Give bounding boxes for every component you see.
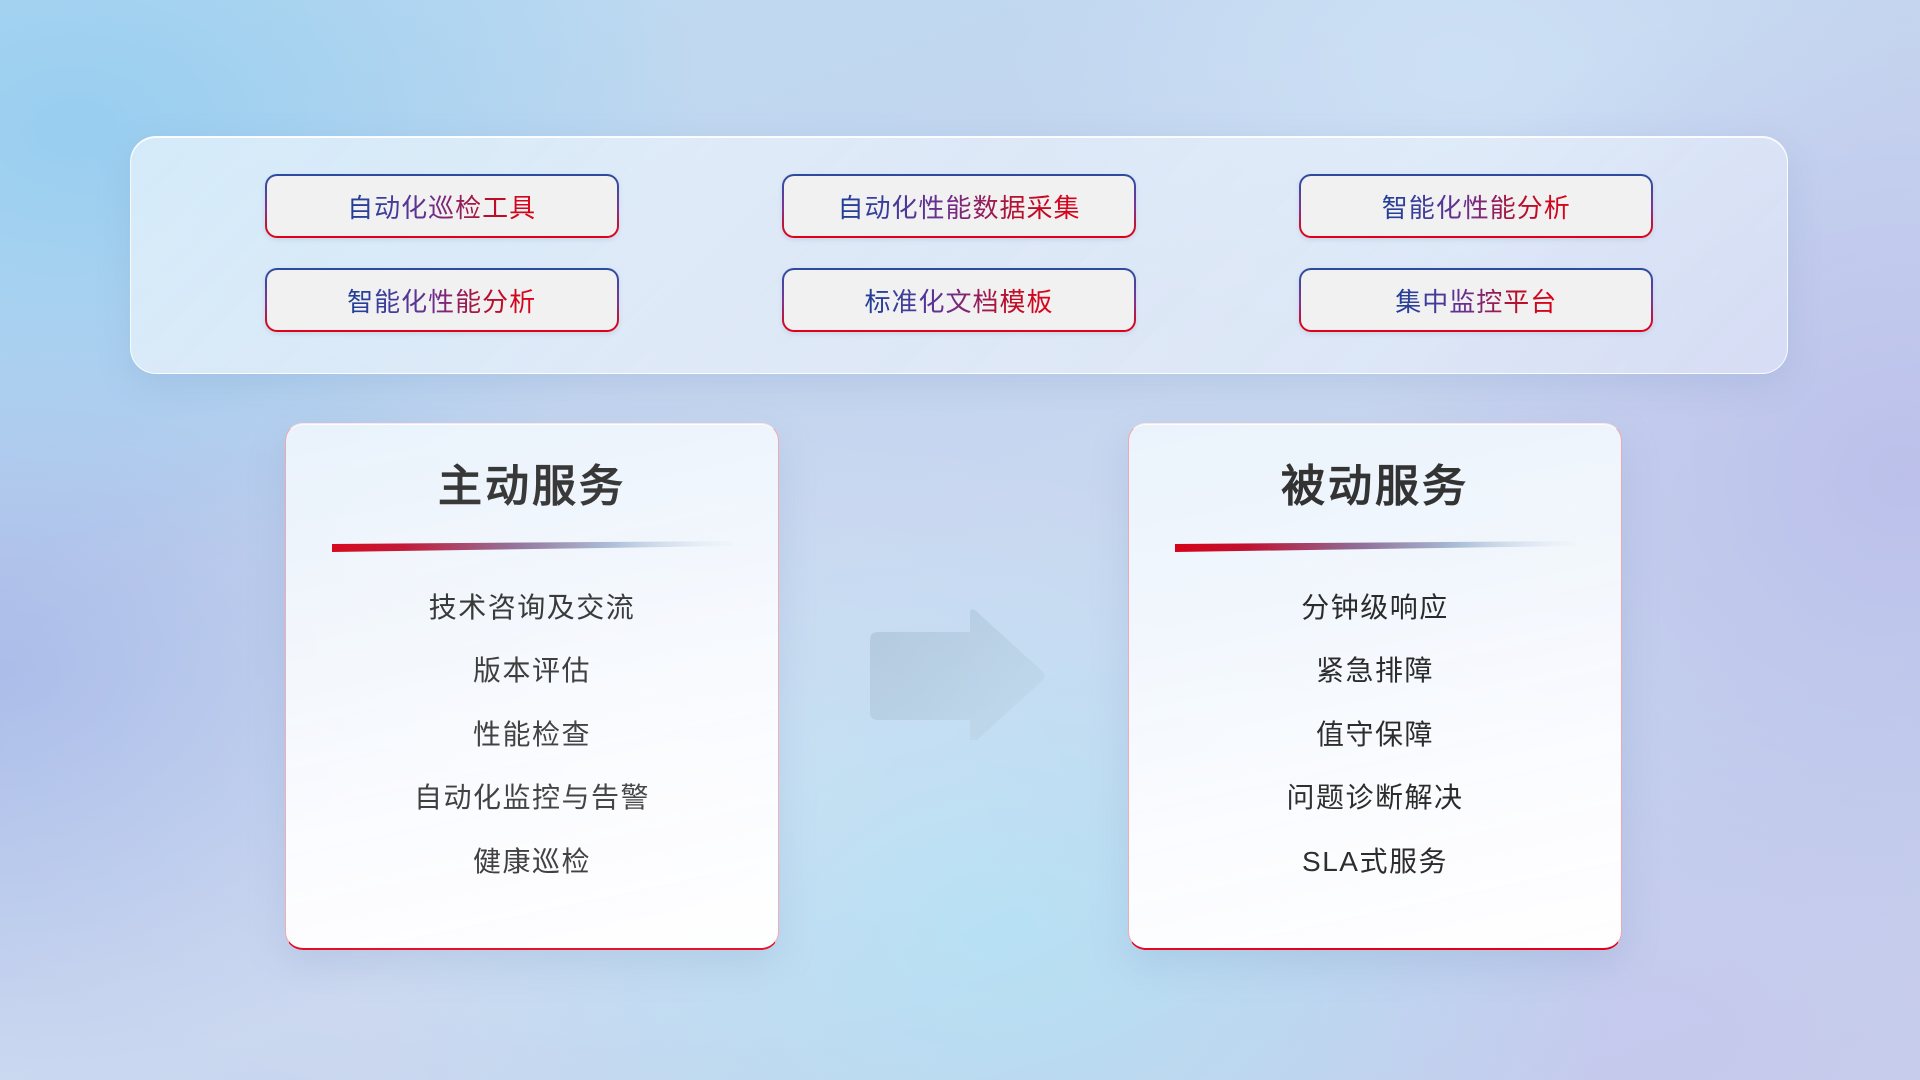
reactive-service-title: 被动服务	[1169, 462, 1581, 513]
right-arrow-icon	[862, 608, 1050, 740]
capability-pill-1-inner: 自动化巡检工具	[267, 176, 617, 236]
capability-pill-1[interactable]: 自动化巡检工具	[265, 174, 619, 238]
capability-pill-2-label: 自动化性能数据采集	[837, 188, 1080, 225]
list-item: 版本评估	[473, 654, 591, 688]
capability-pill-2-inner: 自动化性能数据采集	[784, 176, 1134, 236]
capability-pill-5-inner: 标准化文档模板	[784, 270, 1134, 330]
reactive-title-divider	[1175, 541, 1575, 553]
capability-pill-3-inner: 智能化性能分析	[1301, 176, 1651, 236]
capability-pill-2[interactable]: 自动化性能数据采集	[782, 174, 1136, 238]
capability-pill-5-label: 标准化文档模板	[864, 282, 1053, 319]
list-item: SLA式服务	[1302, 845, 1448, 879]
list-item: 紧急排障	[1316, 654, 1434, 688]
capability-pill-4[interactable]: 智能化性能分析	[265, 268, 619, 332]
proactive-service-list: 技术咨询及交流 版本评估 性能检查 自动化监控与告警 健康巡检	[326, 553, 738, 918]
proactive-title-divider	[332, 541, 732, 553]
list-item: 分钟级响应	[1301, 591, 1449, 625]
proactive-service-card: 主动服务 技术咨询及交流 版本评估 性能检查 自动化监控与告警	[285, 423, 779, 950]
list-item: 技术咨询及交流	[429, 591, 636, 625]
capability-pill-6-label: 集中监控平台	[1395, 282, 1557, 319]
capability-pill-5[interactable]: 标准化文档模板	[782, 268, 1136, 332]
capability-pill-6[interactable]: 集中监控平台	[1299, 268, 1653, 332]
list-item: 自动化监控与告警	[414, 781, 650, 815]
capability-pill-6-inner: 集中监控平台	[1301, 270, 1651, 330]
reactive-service-list: 分钟级响应 紧急排障 值守保障 问题诊断解决 SLA式服务	[1169, 553, 1581, 918]
capability-pill-4-inner: 智能化性能分析	[267, 270, 617, 330]
proactive-service-title: 主动服务	[326, 462, 738, 513]
capability-panel: 自动化巡检工具 自动化性能数据采集 智能化性能分析 智能化性能分析 标准化文档模…	[130, 136, 1788, 374]
capability-pill-1-label: 自动化巡检工具	[347, 188, 536, 225]
reactive-service-card: 被动服务 分钟级响应 紧急排障 值守保障 问题诊断解决	[1128, 423, 1622, 950]
list-item: 健康巡检	[473, 845, 591, 879]
capability-pill-3[interactable]: 智能化性能分析	[1299, 174, 1653, 238]
capability-pill-4-label: 智能化性能分析	[347, 282, 536, 319]
list-item: 值守保障	[1316, 718, 1434, 752]
list-item: 问题诊断解决	[1286, 781, 1463, 815]
list-item: 性能检查	[473, 718, 591, 752]
diagram-canvas: 自动化巡检工具 自动化性能数据采集 智能化性能分析 智能化性能分析 标准化文档模…	[0, 0, 1920, 1080]
capability-pill-3-label: 智能化性能分析	[1382, 188, 1571, 225]
